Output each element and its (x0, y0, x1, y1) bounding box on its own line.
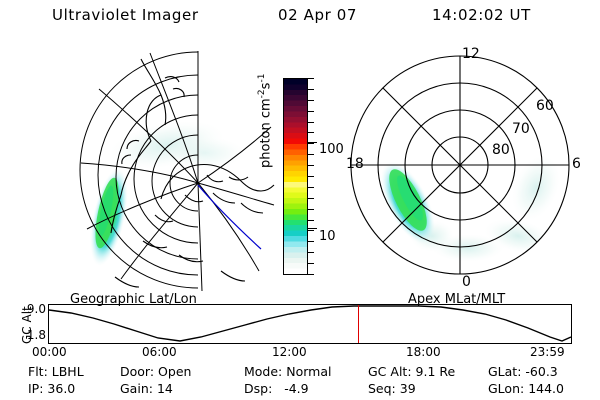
status-gain-label: Gain: (120, 381, 153, 396)
mlat-label-60: 60 (536, 98, 554, 114)
status-gcalt: GC Alt: 9.1 Re (368, 364, 455, 379)
status-mode-value: Normal (286, 364, 331, 379)
status-door-label: Door: (120, 364, 154, 379)
status-row-2: IP: 36.0 Gain: 14 Dsp: -4.9 Seq: 39 GLon… (0, 381, 600, 396)
status-door-value: Open (158, 364, 191, 379)
mlt-label-18: 18 (346, 156, 364, 172)
timeline-y-ticks: 9.0 1.8 (0, 304, 46, 344)
status-ip-label: IP: (28, 381, 43, 396)
status-dsp: Dsp: -4.9 (244, 381, 309, 396)
current-time-marker (358, 305, 359, 343)
timeline-xtick-1: 06:00 (142, 345, 177, 359)
status-glon-value: 144.0 (528, 381, 564, 396)
status-glon-label: GLon: (488, 381, 524, 396)
status-door: Door: Open (120, 364, 191, 379)
status-seq-value: 39 (400, 381, 416, 396)
mlt-spokes (351, 56, 569, 274)
mlt-label-0: 0 (462, 274, 471, 290)
timeline-xtick-2: 12:00 (272, 345, 307, 359)
timeline-plot-area[interactable] (48, 304, 572, 344)
timeline-xtick-4: 23:59 (530, 345, 565, 359)
gc-altitude-curve (49, 306, 571, 341)
status-gcalt-value: 9.1 Re (416, 364, 456, 379)
mlt-label-12: 12 (462, 46, 480, 62)
status-dsp-label: Dsp: (244, 381, 272, 396)
status-glon: GLon: 144.0 (488, 381, 564, 396)
colorbar-unit-main: photon cm (258, 98, 273, 168)
mlat-label-70: 70 (512, 121, 530, 137)
status-row-1: Flt: LBHL Door: Open Mode: Normal GC Alt… (0, 364, 600, 379)
status-seq-label: Seq: (368, 381, 396, 396)
timeline-xtick-3: 18:00 (406, 345, 441, 359)
status-glat-value: -60.3 (525, 364, 557, 379)
status-seq: Seq: 39 (368, 381, 416, 396)
colorbar-unit-label: photon cm-2s-1 (257, 8, 273, 168)
timeline-curve-svg (49, 305, 571, 343)
status-ip-value: 36.0 (47, 381, 75, 396)
mlt-label-6: 6 (572, 156, 581, 172)
colorbar-unit-mid: s (258, 83, 273, 90)
mlt-dial-svg: 12 18 6 0 60 70 80 (340, 40, 600, 290)
instrument-title: Ultraviolet Imager (52, 6, 199, 24)
status-mode-label: Mode: (244, 364, 282, 379)
status-gcalt-label: GC Alt: (368, 364, 412, 379)
mlat-label-80: 80 (492, 142, 510, 158)
status-flt: Flt: LBHL (28, 364, 84, 379)
status-flt-value: LBHL (52, 364, 84, 379)
status-footer: Flt: LBHL Door: Open Mode: Normal GC Alt… (0, 364, 600, 398)
colorbar-swatch (283, 78, 308, 275)
status-ip: IP: 36.0 (28, 381, 75, 396)
colorbar-unit-exp1: -2 (257, 89, 267, 98)
auroral-emission-region (83, 165, 135, 269)
orbit-altitude-timeline: GC Alt 9.0 1.8 00:00 06:00 12:00 18:00 2… (0, 300, 600, 358)
timeline-xtick-0: 00:00 (32, 345, 67, 359)
timeline-ytick-min: 1.8 (27, 328, 46, 342)
header-bar: Ultraviolet Imager 02 Apr 07 14:02:02 UT (0, 6, 600, 32)
timeline-x-ticks: 00:00 06:00 12:00 18:00 23:59 (0, 345, 600, 359)
status-gain: Gain: 14 (120, 381, 173, 396)
geographic-map-svg (55, 45, 275, 295)
colorbar-tick-marks (308, 78, 316, 275)
observation-date: 02 Apr 07 (278, 6, 357, 24)
uv-imager-display: Ultraviolet Imager 02 Apr 07 14:02:02 UT (0, 0, 600, 400)
mlt-dial-panel: 12 18 6 0 60 70 80 (340, 40, 600, 290)
geographic-map-panel (55, 45, 275, 295)
status-gain-value: 14 (157, 381, 173, 396)
status-glat: GLat: -60.3 (488, 364, 558, 379)
colorbar-tick-label-10: 10 (319, 229, 336, 244)
status-glat-label: GLat: (488, 364, 521, 379)
status-dsp-value: -4.9 (284, 381, 308, 396)
status-mode: Mode: Normal (244, 364, 332, 379)
colorbar-unit-exp2: -1 (257, 74, 267, 83)
colorbar-gradient (284, 79, 307, 274)
observation-time: 14:02:02 UT (432, 6, 531, 24)
status-flt-label: Flt: (28, 364, 48, 379)
timeline-ytick-max: 9.0 (27, 302, 46, 316)
